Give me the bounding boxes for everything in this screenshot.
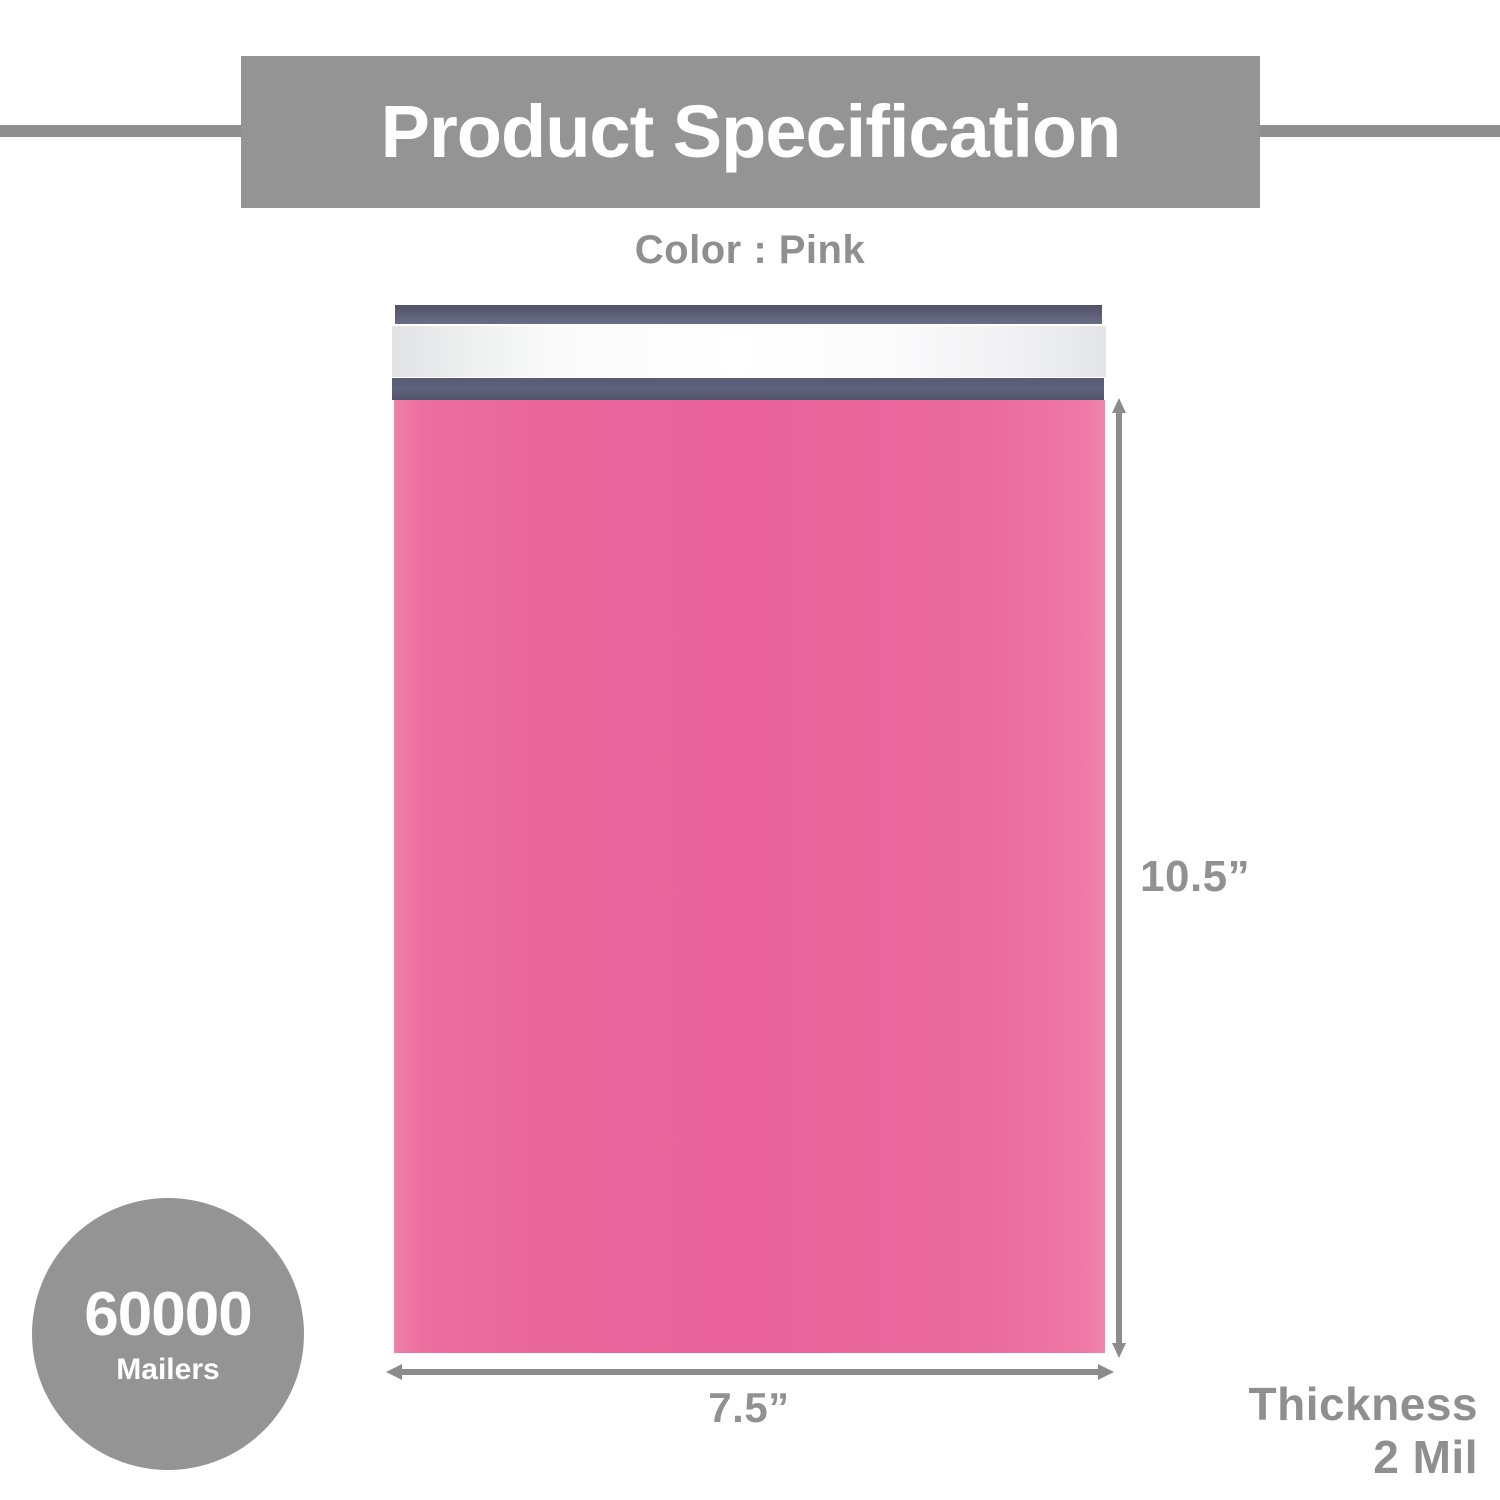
height-dimension-label: 10.5” [1140,852,1250,902]
height-dimension-arrow-icon [1112,398,1126,1358]
thickness-spec: Thickness 2 Mil [1249,1378,1479,1484]
page-title: Product Specification [381,95,1121,169]
thickness-value: 2 Mil [1249,1431,1479,1484]
header-banner: Product Specification [241,56,1260,208]
quantity-badge: 60000 Mailers [32,1198,304,1470]
mailer-flap-bottom-band [392,378,1104,400]
poly-mailer-illustration [392,305,1106,1353]
color-spec-label: Color : Pink [0,228,1500,273]
quantity-count: 60000 [84,1284,251,1346]
quantity-unit-label: Mailers [116,1355,219,1385]
mailer-flap-top-band [395,305,1102,324]
width-dimension-arrow-icon [386,1364,1114,1380]
mailer-adhesive-seal-strip [392,326,1106,377]
product-specification-page: Product Specification Color : Pink 10.5”… [0,0,1500,1500]
width-dimension-label: 7.5” [392,1384,1106,1432]
mailer-body-pink [394,400,1105,1353]
thickness-label: Thickness [1249,1378,1479,1431]
